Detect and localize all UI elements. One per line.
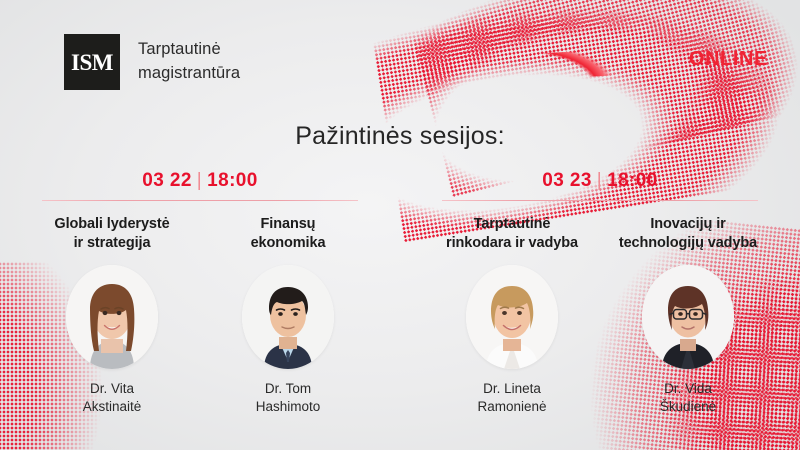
divider-1	[42, 200, 358, 201]
speaker-name-line-2: Akstinaitė	[28, 398, 196, 416]
speaker-name: Dr. Tom Hashimoto	[204, 380, 372, 416]
speaker-name-line-2: Ramonienė	[428, 398, 596, 416]
session-group-2: 03 23|18:00 Tarptautinė rinkodara ir vad…	[400, 170, 800, 416]
speaker-name-line-1: Dr. Vida	[604, 380, 772, 398]
ism-logo-text: ISM	[71, 51, 113, 74]
datetime-separator-2: |	[597, 170, 602, 191]
brand-name: Tarptautinė magistrantūra	[138, 38, 240, 86]
program-title-line-2: technologijų vadyba	[604, 234, 772, 253]
halftone-wave-top-right-secondary-icon	[380, 0, 800, 198]
portrait-woman-glasses-dark-top-icon	[642, 265, 734, 369]
online-badge: ONLINE	[689, 48, 768, 71]
avatar	[242, 265, 334, 369]
speaker-name: Dr. Vida Škudienė	[604, 380, 772, 416]
program-title: Finansų ekonomika	[204, 215, 372, 253]
session-datetime-1: 03 22|18:00	[24, 170, 376, 192]
session-date-1: 03 22	[142, 170, 192, 191]
speaker-name-line-1: Dr. Lineta	[428, 380, 596, 398]
avatar	[642, 265, 734, 369]
red-swoosh-tail-icon	[469, 47, 660, 83]
program-title-line-2: ekonomika	[204, 234, 372, 253]
speaker-name-line-1: Dr. Tom	[204, 380, 372, 398]
speaker-cards-2: Tarptautinė rinkodara ir vadyba	[424, 215, 776, 416]
ism-logo-icon: ISM	[64, 34, 120, 90]
page-title: Pažintinės sesijos:	[0, 122, 800, 151]
program-title-line-1: Inovacijų ir	[604, 215, 772, 234]
speaker-name-line-2: Škudienė	[604, 398, 772, 416]
speaker-name: Dr. Vita Akstinaitė	[28, 380, 196, 416]
speaker-card[interactable]: Globali lyderystė ir strategija	[24, 215, 200, 416]
speaker-card[interactable]: Inovacijų ir technologijų vadyba	[600, 215, 776, 416]
session-group-1: 03 22|18:00 Globali lyderystė ir strateg…	[0, 170, 400, 416]
speaker-name: Dr. Lineta Ramonienė	[428, 380, 596, 416]
program-title-line-1: Finansų	[204, 215, 372, 234]
brand-line-2: magistrantūra	[138, 62, 240, 86]
speaker-cards-1: Globali lyderystė ir strategija	[24, 215, 376, 416]
portrait-woman-blonde-white-blouse-icon	[466, 265, 558, 369]
program-title: Inovacijų ir technologijų vadyba	[604, 215, 772, 253]
datetime-separator-1: |	[197, 170, 202, 191]
session-groups: 03 22|18:00 Globali lyderystė ir strateg…	[0, 170, 800, 416]
divider-2	[442, 200, 758, 201]
speaker-card[interactable]: Finansų ekonomika	[200, 215, 376, 416]
portrait-man-dark-hair-suit-icon	[242, 265, 334, 369]
brand-header: ISM Tarptautinė magistrantūra	[64, 34, 240, 90]
program-title: Tarptautinė rinkodara ir vadyba	[428, 215, 596, 253]
program-title: Globali lyderystė ir strategija	[28, 215, 196, 253]
session-datetime-2: 03 23|18:00	[424, 170, 776, 192]
session-time-1: 18:00	[207, 170, 258, 191]
brand-line-1: Tarptautinė	[138, 38, 240, 62]
session-date-2: 03 23	[542, 170, 592, 191]
program-title-line-2: ir strategija	[28, 234, 196, 253]
program-title-line-2: rinkodara ir vadyba	[428, 234, 596, 253]
speaker-card[interactable]: Tarptautinė rinkodara ir vadyba	[424, 215, 600, 416]
session-time-2: 18:00	[607, 170, 658, 191]
avatar	[466, 265, 558, 369]
poster-canvas: ISM Tarptautinė magistrantūra ONLINE Paž…	[0, 0, 800, 450]
program-title-line-1: Globali lyderystė	[28, 215, 196, 234]
speaker-name-line-2: Hashimoto	[204, 398, 372, 416]
program-title-line-1: Tarptautinė	[428, 215, 596, 234]
portrait-woman-long-brown-hair-icon	[66, 265, 158, 369]
avatar	[66, 265, 158, 369]
speaker-name-line-1: Dr. Vita	[28, 380, 196, 398]
